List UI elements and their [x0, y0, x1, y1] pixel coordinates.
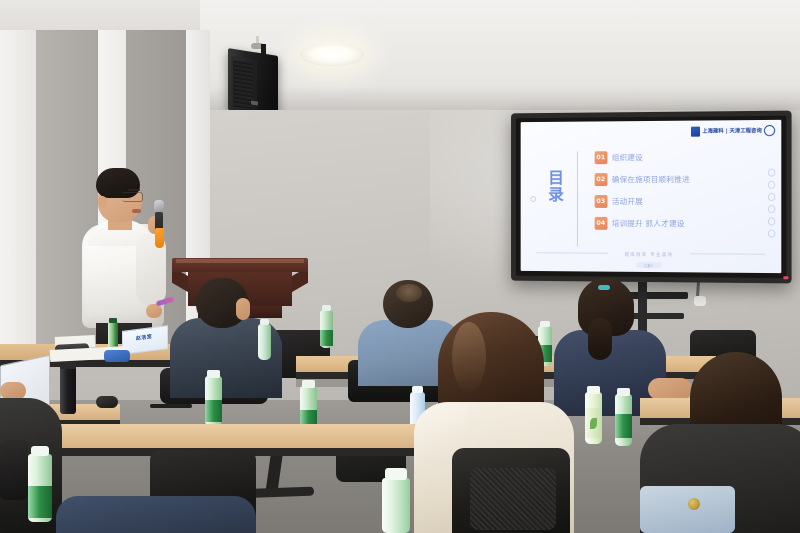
- slide-title: 目录: [542, 169, 571, 203]
- slide-footer-text: 提高效率 专业高效: [521, 251, 782, 259]
- company-seal-icon: [764, 125, 775, 136]
- bottle-cap: [540, 321, 550, 327]
- toc-item: 03 活动开展: [595, 195, 755, 208]
- toc-item-label: 组织建设: [612, 152, 643, 163]
- slide-logo: 上海建科 | 天津工程咨询: [691, 125, 775, 137]
- bottle-cap: [385, 468, 407, 480]
- blue-desk-item: [104, 350, 130, 362]
- presenter: [70, 168, 188, 353]
- toc-item: 04 培训提升 抓人才建设: [595, 217, 755, 230]
- toc-item-number: 02: [595, 173, 607, 185]
- audience-member-arm: [648, 378, 692, 400]
- bottle-label: [205, 400, 222, 422]
- display-power-led-icon: [783, 276, 788, 279]
- bottle-label: [320, 330, 333, 346]
- toc-item-label: 活动开展: [612, 196, 643, 207]
- bottle-cap: [260, 319, 269, 325]
- thermos-flask: [60, 366, 76, 414]
- bottle-cap: [302, 380, 315, 388]
- water-bottle: [382, 478, 410, 533]
- rail-dot-icon: [767, 205, 775, 213]
- audience-member-crown: [396, 284, 422, 302]
- rail-dot-icon: [767, 193, 775, 201]
- rail-dot-icon: [767, 169, 775, 177]
- toc-item-label: 培训提升 抓人才建设: [612, 218, 685, 229]
- toc-item: 02 确保在施项目顺利推进: [595, 173, 755, 186]
- hair-tie-icon: [598, 285, 610, 290]
- bottle-cap: [207, 370, 220, 378]
- recessed-ceiling-light-icon: [300, 44, 364, 66]
- toc-item: 01 组织建设: [595, 150, 755, 163]
- slide-divider: [577, 151, 578, 246]
- presentation-display[interactable]: 上海建科 | 天津工程咨询 目录 01 组织建设 02 确保在施项目顺利推进: [511, 111, 792, 284]
- bottle-cap: [587, 386, 600, 394]
- bottle-label: [28, 486, 52, 518]
- rail-dot-icon: [767, 229, 775, 237]
- presenter-brow: [128, 189, 140, 191]
- audience-member-torso: [56, 496, 256, 533]
- toc-item-number: 04: [595, 217, 607, 229]
- cable-clip: [694, 296, 706, 306]
- company-logo-icon: [691, 126, 700, 136]
- bottle-cap: [31, 446, 49, 456]
- slide-decoration-rail: [767, 169, 775, 237]
- audience-member-face: [236, 298, 250, 320]
- slide-contents: 上海建科 | 天津工程咨询 目录 01 组织建设 02 确保在施项目顺利推进: [521, 120, 782, 273]
- slide-footer-pill: 汇报人: [636, 262, 662, 268]
- toc-item-number: 03: [595, 195, 607, 207]
- display-screen[interactable]: 上海建科 | 天津工程咨询 目录 01 组织建设 02 确保在施项目顺利推进: [521, 120, 782, 273]
- speaker-grille: [233, 60, 253, 109]
- presenter-mouth: [132, 209, 141, 213]
- bottle-cap: [412, 386, 423, 393]
- chair: [0, 440, 28, 500]
- hair-highlight: [452, 322, 486, 392]
- bottle-cap: [322, 305, 331, 311]
- bottle-cap: [109, 318, 117, 323]
- button-icon: [688, 498, 700, 510]
- pen-icon: [150, 404, 192, 408]
- bottle-cap: [617, 388, 630, 396]
- chair-mesh-back: [470, 468, 556, 530]
- water-bottle: [258, 324, 271, 360]
- audience-member-ponytail: [588, 318, 612, 360]
- computer-mouse-icon[interactable]: [96, 396, 118, 408]
- leaf-icon: [590, 418, 597, 429]
- slide-toc-list: 01 组织建设 02 确保在施项目顺利推进 03 活动开展 04 培训提升 抓人…: [595, 150, 755, 239]
- wall-panel-white: [0, 30, 36, 360]
- rail-dot-icon: [767, 217, 775, 225]
- toc-item-label: 确保在施项目顺利推进: [612, 174, 690, 185]
- display-stand-pole: [638, 282, 647, 336]
- company-logo-text: 上海建科 | 天津工程咨询: [702, 127, 762, 135]
- microphone-grip: [155, 228, 164, 248]
- bottle-label: [615, 414, 632, 438]
- meeting-room-photo: 上海建科 | 天津工程咨询 目录 01 组织建设 02 确保在施项目顺利推进: [0, 0, 800, 533]
- glasses-icon: [122, 192, 143, 202]
- thermos-cap: [60, 362, 76, 369]
- toc-item-number: 01: [595, 151, 607, 163]
- presenter-ear: [98, 196, 107, 208]
- slide-decoration-dot: [530, 196, 536, 202]
- presenter-hand-holding-pointer: [146, 304, 162, 318]
- denim-jacket: [640, 486, 735, 533]
- rail-dot-icon: [767, 181, 775, 189]
- podium-top-highlight: [176, 259, 304, 263]
